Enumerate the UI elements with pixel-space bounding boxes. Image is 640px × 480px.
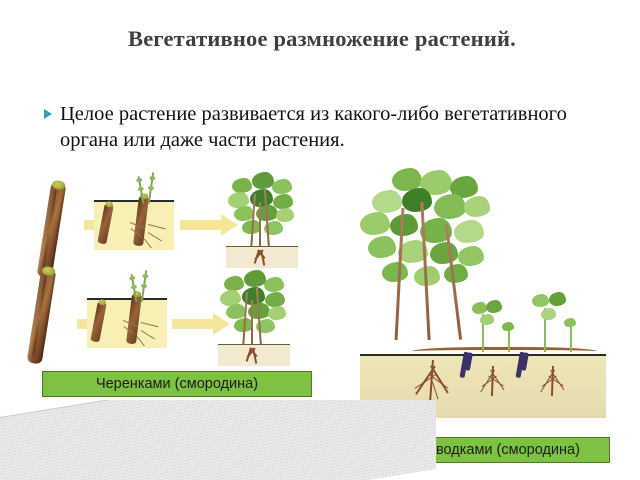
figure-propagation-by-layering xyxy=(352,168,614,430)
grown-currant-bush-icon xyxy=(226,172,298,268)
soil-box-with-cuttings-icon xyxy=(87,298,167,348)
page-title: Вегетативное размножение растений. xyxy=(36,26,608,52)
figure-propagation-by-cuttings xyxy=(22,170,322,370)
root-system-icon xyxy=(408,360,464,412)
bullet-item-text: Целое растение развивается из какого-либ… xyxy=(60,101,589,153)
caption-cuttings: Черенками (смородина) xyxy=(42,371,312,397)
root-system-icon xyxy=(534,366,578,408)
triangle-bullet-icon xyxy=(44,109,52,119)
cutting-stick-icon xyxy=(37,181,67,278)
cutting-stick-icon xyxy=(27,267,57,364)
grown-currant-bush-icon xyxy=(218,270,290,366)
new-shoot-icon xyxy=(530,292,568,352)
new-shoot-icon xyxy=(470,300,504,352)
caption-layering: Отводками (смородина) xyxy=(388,437,610,463)
bullet-list: Целое растение развивается из какого-либ… xyxy=(44,101,589,153)
new-shoot-icon xyxy=(502,322,516,352)
new-shoot-icon xyxy=(564,318,578,352)
root-system-icon xyxy=(474,366,518,408)
soil-box-with-cuttings-icon xyxy=(94,200,174,250)
currant-bush-icon xyxy=(358,168,508,318)
slide-canvas: Вегетативное размножение растений. Целое… xyxy=(0,0,640,480)
